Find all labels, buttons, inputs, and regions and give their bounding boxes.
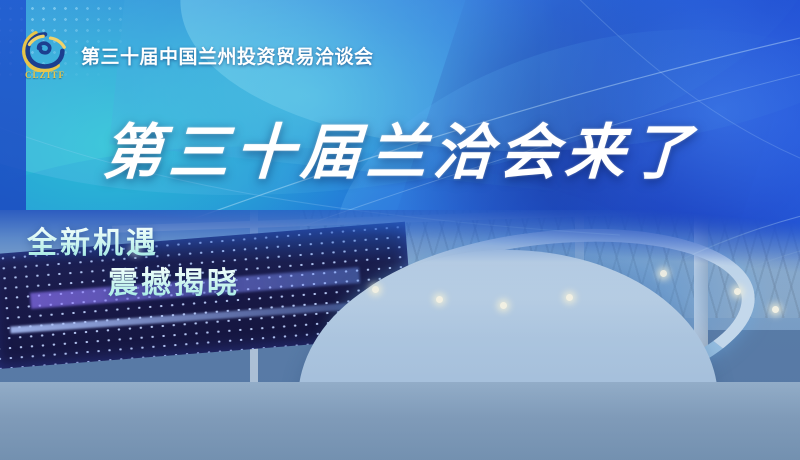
photo-ceiling-light <box>734 288 741 295</box>
logo-abbreviation: CLZITF <box>25 70 65 80</box>
photo-ceiling-light <box>660 270 667 277</box>
photo-ceiling-light <box>436 296 443 303</box>
photo-floor <box>0 382 800 460</box>
subtitle-line-1: 全新机遇 <box>27 218 159 262</box>
clzitf-swirl-logo-icon <box>22 28 68 72</box>
main-title: 第三十届兰洽会来了 <box>0 104 800 191</box>
photo-ceiling-light <box>566 294 573 301</box>
organization-title: 第三十届中国兰州投资贸易洽谈会 <box>81 42 374 69</box>
subtitle-line-2: 震撼揭晓 <box>108 258 240 302</box>
photo-ceiling-light <box>772 306 779 313</box>
promo-banner: CLZITF 第三十届中国兰州投资贸易洽谈会 第三十届兰洽会来了 全新机遇 震撼… <box>0 0 800 460</box>
logo: CLZITF <box>18 28 72 82</box>
banner-header: CLZITF 第三十届中国兰州投资贸易洽谈会 <box>18 28 374 82</box>
photo-ceiling-light <box>500 302 507 309</box>
photo-ceiling-light <box>372 286 379 293</box>
